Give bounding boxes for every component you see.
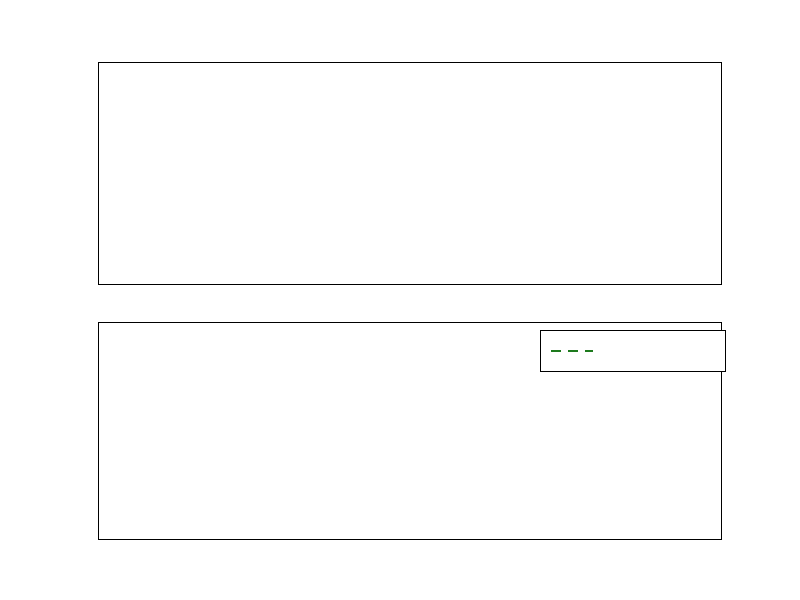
top-histogram-plot-area: [99, 63, 721, 284]
legend-box: [540, 330, 726, 372]
mag-limit-dashed-line-icon: [551, 350, 593, 352]
figure-canvas: [0, 0, 800, 600]
top-histogram-axes: [98, 62, 722, 285]
